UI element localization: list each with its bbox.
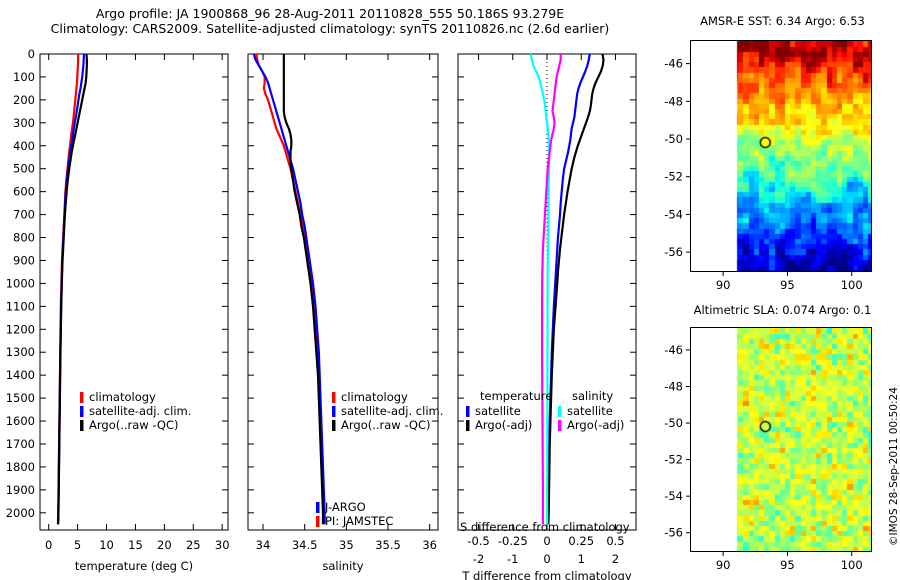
svg-text:-54: -54 bbox=[664, 207, 683, 221]
svg-text:90: 90 bbox=[716, 558, 731, 572]
svg-text:temperature (deg C): temperature (deg C) bbox=[75, 559, 193, 573]
svg-text:500: 500 bbox=[13, 162, 35, 176]
svg-text:1300: 1300 bbox=[6, 345, 35, 359]
svg-text:34.5: 34.5 bbox=[292, 538, 318, 552]
svg-text:1800: 1800 bbox=[6, 460, 35, 474]
svg-text:35: 35 bbox=[339, 538, 354, 552]
legend-temperature-swatch-2 bbox=[80, 420, 84, 431]
legend-salinity-swatch-1 bbox=[332, 406, 336, 417]
series-argo-raw-qc- bbox=[284, 54, 323, 524]
svg-text:300: 300 bbox=[13, 116, 35, 130]
svg-text:900: 900 bbox=[13, 253, 35, 267]
svg-text:-52: -52 bbox=[664, 170, 683, 184]
legend-diff-header-salinity: salinity bbox=[572, 389, 613, 403]
svg-text:100: 100 bbox=[13, 70, 35, 84]
copyright-label: ©IMOS 28-Sep-2011 00:50:24 bbox=[888, 387, 900, 546]
annotation-label-1: PI: JAMSTEC bbox=[325, 514, 393, 528]
svg-text:T difference from climatology: T difference from climatology bbox=[461, 569, 632, 580]
annotation-swatch-0 bbox=[316, 502, 320, 513]
map-sst-title: AMSR-E SST: 6.34 Argo: 6.53 bbox=[665, 14, 900, 28]
svg-text:2000: 2000 bbox=[6, 506, 35, 520]
legend-salinity-label-2: Argo(..raw -QC) bbox=[341, 418, 431, 432]
svg-text:800: 800 bbox=[13, 231, 35, 245]
svg-text:1500: 1500 bbox=[6, 391, 35, 405]
legend-diff-salinity-swatch-1 bbox=[558, 420, 562, 431]
svg-text:30: 30 bbox=[215, 538, 230, 552]
legend-salinity-label-0: climatology bbox=[341, 390, 408, 404]
legend-temperature-label-1: satellite-adj. clim. bbox=[89, 404, 191, 418]
profile-panel-2: 3434.53535.536salinity bbox=[248, 54, 438, 573]
svg-text:0: 0 bbox=[543, 552, 550, 566]
svg-text:-46: -46 bbox=[664, 343, 683, 357]
svg-text:25: 25 bbox=[186, 538, 201, 552]
legend-salinity-label-1: satellite-adj. clim. bbox=[341, 404, 443, 418]
page-title: Argo profile: JA 1900868_96 28-Aug-2011 … bbox=[0, 6, 660, 36]
profile-panel-3: -2-1012-0.5-0.2500.250.5S difference fro… bbox=[458, 54, 636, 580]
title-line-1: Argo profile: JA 1900868_96 28-Aug-2011 … bbox=[0, 6, 660, 21]
svg-text:1100: 1100 bbox=[6, 299, 35, 313]
legend-temperature-swatch-1 bbox=[80, 406, 84, 417]
annotation-label-0: J-ARGO bbox=[324, 500, 366, 514]
svg-text:1700: 1700 bbox=[6, 437, 35, 451]
legend-diff-salinity-label-1: Argo(-adj) bbox=[567, 418, 624, 432]
svg-text:1200: 1200 bbox=[6, 322, 35, 336]
svg-text:1900: 1900 bbox=[6, 483, 35, 497]
title-line-2: Climatology: CARS2009. Satellite-adjuste… bbox=[0, 21, 660, 36]
svg-text:-50: -50 bbox=[664, 132, 683, 146]
svg-text:95: 95 bbox=[780, 278, 795, 292]
svg-text:1600: 1600 bbox=[6, 414, 35, 428]
svg-text:10: 10 bbox=[99, 538, 114, 552]
svg-text:36: 36 bbox=[422, 538, 437, 552]
profile-panel-1: 0100200300400500600700800900100011001200… bbox=[6, 47, 230, 573]
svg-text:90: 90 bbox=[716, 278, 731, 292]
svg-text:-1: -1 bbox=[507, 552, 518, 566]
svg-text:700: 700 bbox=[13, 208, 35, 222]
svg-text:-50: -50 bbox=[664, 416, 683, 430]
svg-text:-0.5: -0.5 bbox=[467, 534, 489, 548]
svg-text:95: 95 bbox=[780, 558, 795, 572]
annotation-swatch-1 bbox=[316, 516, 320, 527]
map-sla-axes: -46-48-50-52-54-569095100 bbox=[640, 315, 900, 580]
legend-salinity-swatch-2 bbox=[332, 420, 336, 431]
svg-text:100: 100 bbox=[841, 558, 863, 572]
legend-diff-temperature-swatch-0 bbox=[466, 406, 470, 417]
svg-text:0.25: 0.25 bbox=[568, 534, 594, 548]
legend-diff-temperature-swatch-1 bbox=[466, 420, 470, 431]
svg-text:-54: -54 bbox=[664, 489, 683, 503]
legend-diff-temperature-label-1: Argo(-adj) bbox=[475, 418, 532, 432]
svg-text:-56: -56 bbox=[664, 526, 683, 540]
svg-text:-52: -52 bbox=[664, 453, 683, 467]
svg-text:5: 5 bbox=[74, 538, 81, 552]
svg-text:-0.25: -0.25 bbox=[498, 534, 528, 548]
svg-text:35.5: 35.5 bbox=[375, 538, 401, 552]
series-satellite-adj-clim- bbox=[254, 54, 325, 524]
svg-text:0: 0 bbox=[45, 538, 52, 552]
svg-text:34: 34 bbox=[256, 538, 271, 552]
svg-text:600: 600 bbox=[13, 185, 35, 199]
legend-temperature-label-2: Argo(..raw -QC) bbox=[89, 418, 179, 432]
profile-chart-svg: 0100200300400500600700800900100011001200… bbox=[0, 40, 660, 580]
legend-temperature-label-0: climatology bbox=[89, 390, 156, 404]
legend-diff-header-temperature: temperature bbox=[480, 389, 552, 403]
svg-text:1: 1 bbox=[578, 552, 585, 566]
svg-text:0.5: 0.5 bbox=[606, 534, 624, 548]
svg-text:1000: 1000 bbox=[6, 276, 35, 290]
svg-text:-48: -48 bbox=[664, 379, 683, 393]
svg-text:-48: -48 bbox=[664, 94, 683, 108]
svg-text:20: 20 bbox=[157, 538, 172, 552]
profile-panels: 0100200300400500600700800900100011001200… bbox=[0, 40, 660, 580]
legend-salinity-swatch-0 bbox=[332, 392, 336, 403]
svg-text:400: 400 bbox=[13, 139, 35, 153]
svg-text:2: 2 bbox=[612, 552, 619, 566]
legend-diff-salinity-swatch-0 bbox=[558, 406, 562, 417]
map-sst-axes: -46-48-50-52-54-569095100 bbox=[640, 28, 900, 298]
svg-text:-2: -2 bbox=[473, 552, 484, 566]
legend-temperature-swatch-0 bbox=[80, 392, 84, 403]
svg-text:-46: -46 bbox=[664, 57, 683, 71]
svg-text:200: 200 bbox=[13, 93, 35, 107]
series-temperature-argo-adj- bbox=[548, 54, 603, 524]
legend-diff-temperature-label-0: satellite bbox=[475, 404, 521, 418]
svg-text:1400: 1400 bbox=[6, 368, 35, 382]
svg-text:-56: -56 bbox=[664, 245, 683, 259]
series-salinity-satellite bbox=[531, 54, 549, 524]
svg-text:15: 15 bbox=[128, 538, 143, 552]
svg-text:100: 100 bbox=[841, 278, 863, 292]
svg-text:0: 0 bbox=[28, 47, 35, 61]
svg-text:0: 0 bbox=[543, 534, 550, 548]
svg-text:S difference from climatology: S difference from climatology bbox=[460, 520, 630, 534]
legend-diff-salinity-label-0: satellite bbox=[567, 404, 613, 418]
svg-text:salinity: salinity bbox=[322, 559, 363, 573]
